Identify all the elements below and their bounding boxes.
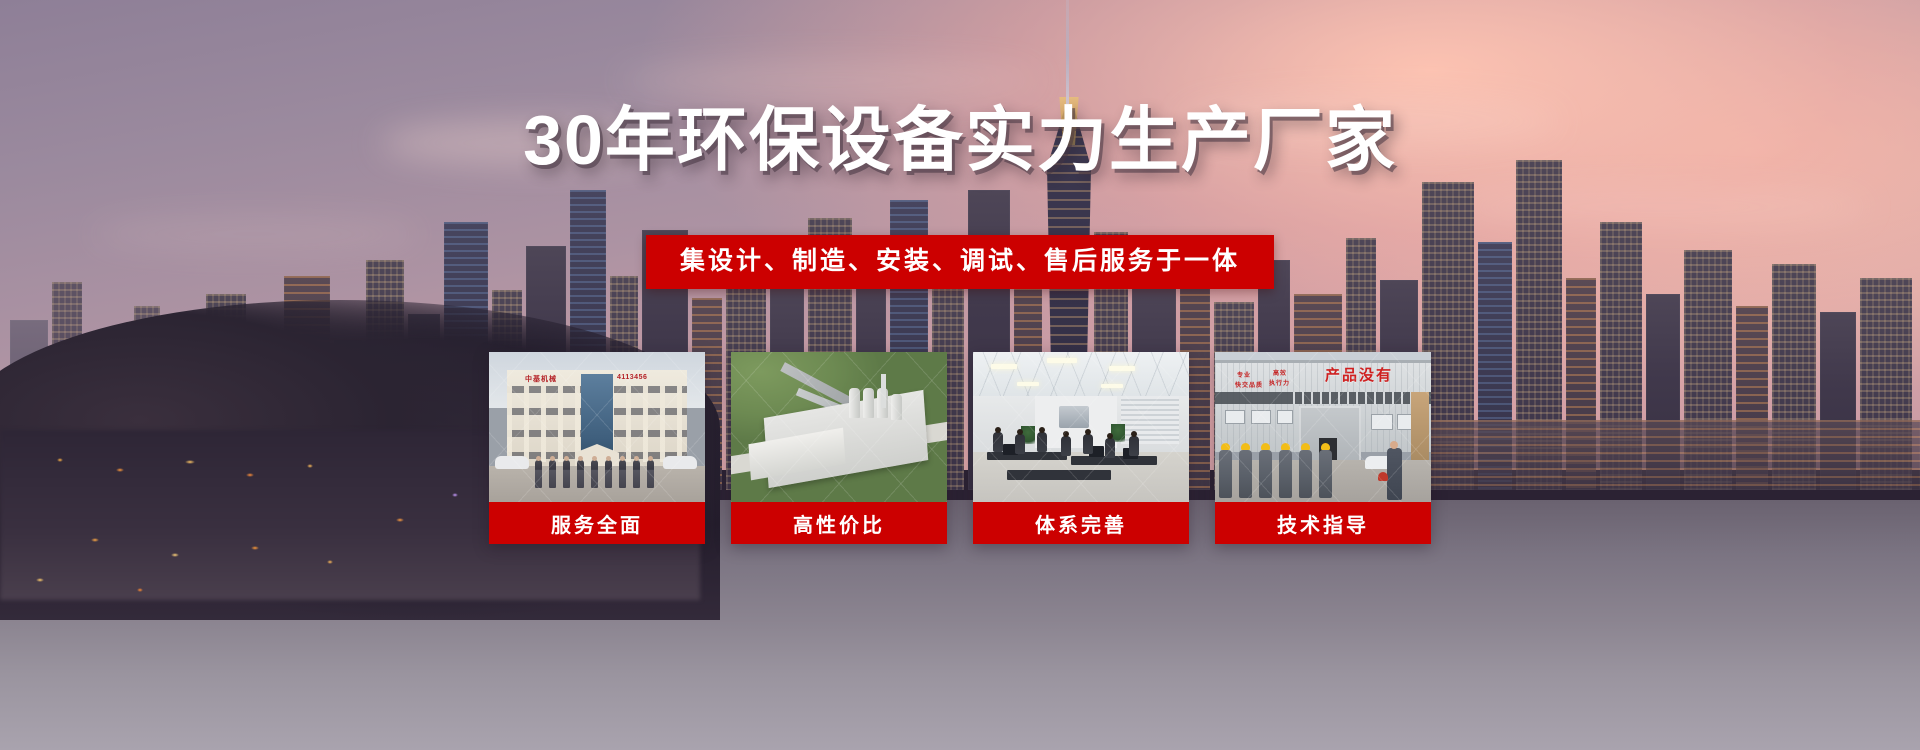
card-caption-system: 体系完善 [973,502,1189,544]
factory-slogan-2: 快交品质 [1235,382,1263,390]
factory-slogan-1: 专业 [1237,372,1251,380]
card-photo-office-interior [973,352,1189,502]
factory-big-sign: 产品没有 [1325,364,1393,385]
feature-card-system[interactable]: 体系完善 [973,352,1189,544]
building-company-sign: 中基机械 [525,374,557,384]
card-photo-factory-exterior: 产品没有 专业 快交品质 高效 执行力 [1215,352,1431,502]
feature-card-service[interactable]: 中基机械 4113456 服务全面 [489,352,705,544]
factory-slogan-4: 执行力 [1269,380,1290,388]
card-photo-aerial-plant [731,352,947,502]
banner-content: 30年环保设备实力生产厂家 集设计、制造、安装、调试、售后服务于一体 中基机械 … [0,0,1920,750]
building-phone-number: 4113456 [617,374,647,381]
feature-card-value[interactable]: 高性价比 [731,352,947,544]
card-caption-guidance: 技术指导 [1215,502,1431,544]
card-caption-value: 高性价比 [731,502,947,544]
page-title: 30年环保设备实力生产厂家 [0,103,1920,177]
subtitle-text: 集设计、制造、安装、调试、售后服务于一体 [680,246,1240,276]
feature-card-row: 中基机械 4113456 服务全面 [489,352,1431,544]
card-photo-office-building: 中基机械 4113456 [489,352,705,502]
hero-banner: 30年环保设备实力生产厂家 集设计、制造、安装、调试、售后服务于一体 中基机械 … [0,0,1920,750]
feature-card-guidance[interactable]: 产品没有 专业 快交品质 高效 执行力 [1215,352,1431,544]
card-caption-service: 服务全面 [489,502,705,544]
factory-slogan-3: 高效 [1273,370,1287,378]
subtitle-banner: 集设计、制造、安装、调试、售后服务于一体 [646,235,1274,289]
